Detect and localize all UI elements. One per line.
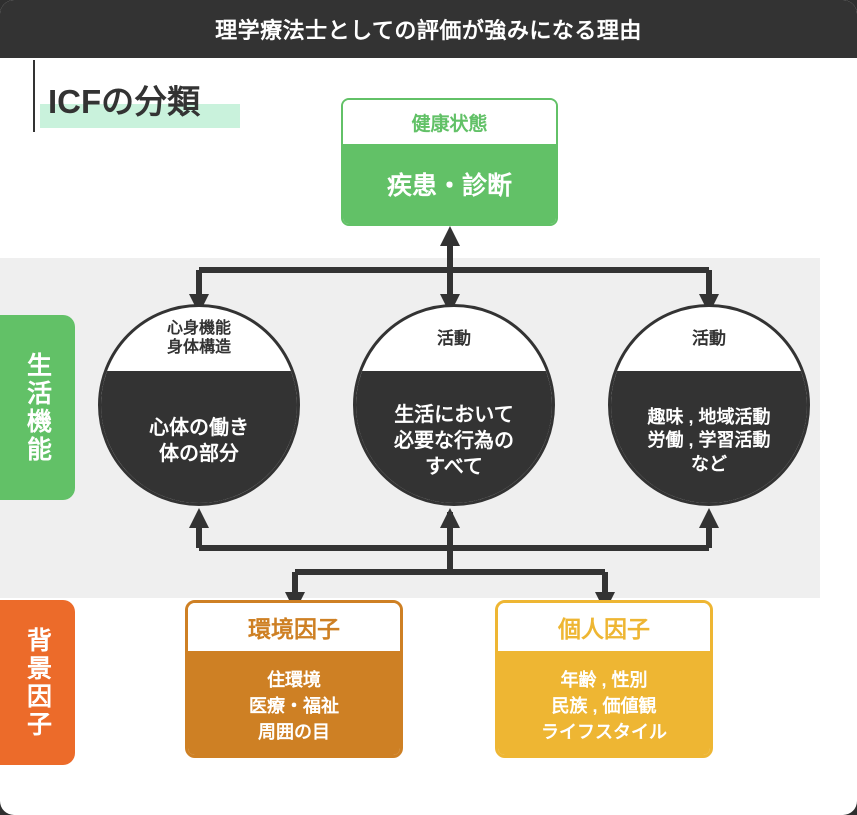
personal-factor-box[interactable]: 個人因子 年齢 , 性別民族 , 価値観ライフスタイル xyxy=(495,600,713,758)
health-status-box[interactable]: 健康状態 疾患・診断 xyxy=(341,98,558,226)
circle-participation-detail: 趣味 , 地域活動労働 , 学習活動など xyxy=(611,371,807,506)
header-bar: 理学療法士としての評価が強みになる理由 xyxy=(0,0,857,58)
section-title-rule xyxy=(33,60,35,132)
side-label-context-factor: 背景因子 xyxy=(0,600,75,765)
circle-participation[interactable]: 活動 趣味 , 地域活動労働 , 学習活動など xyxy=(608,304,810,506)
environmental-factor-detail: 住環境医療・福祉周囲の目 xyxy=(188,651,400,758)
circle-body-function[interactable]: 心身機能身体構造 心体の働き体の部分 xyxy=(98,304,300,506)
page-title: 理学療法士としての評価が強みになる理由 xyxy=(215,13,642,45)
personal-factor-title: 個人因子 xyxy=(498,603,710,651)
circle-body-function-title: 心身機能身体構造 xyxy=(101,307,297,371)
health-status-body: 疾患・診断 xyxy=(343,144,556,224)
circle-activity-title: 活動 xyxy=(356,307,552,371)
circle-body-function-detail: 心体の働き体の部分 xyxy=(101,371,297,506)
page-sheet: 理学療法士としての評価が強みになる理由 ICFの分類 xyxy=(0,0,857,815)
diagram-page: 理学療法士としての評価が強みになる理由 ICFの分類 xyxy=(0,0,857,815)
environmental-factor-title: 環境因子 xyxy=(188,603,400,651)
section-title: ICFの分類 xyxy=(48,75,200,123)
circle-activity[interactable]: 活動 生活において必要な行為のすべて xyxy=(353,304,555,506)
health-status-title: 健康状態 xyxy=(343,100,556,144)
circle-activity-detail: 生活において必要な行為のすべて xyxy=(356,371,552,506)
environmental-factor-box[interactable]: 環境因子 住環境医療・福祉周囲の目 xyxy=(185,600,403,758)
side-label-life-function: 生活機能 xyxy=(0,315,75,500)
personal-factor-detail: 年齢 , 性別民族 , 価値観ライフスタイル xyxy=(498,651,710,758)
circle-participation-title: 活動 xyxy=(611,307,807,371)
